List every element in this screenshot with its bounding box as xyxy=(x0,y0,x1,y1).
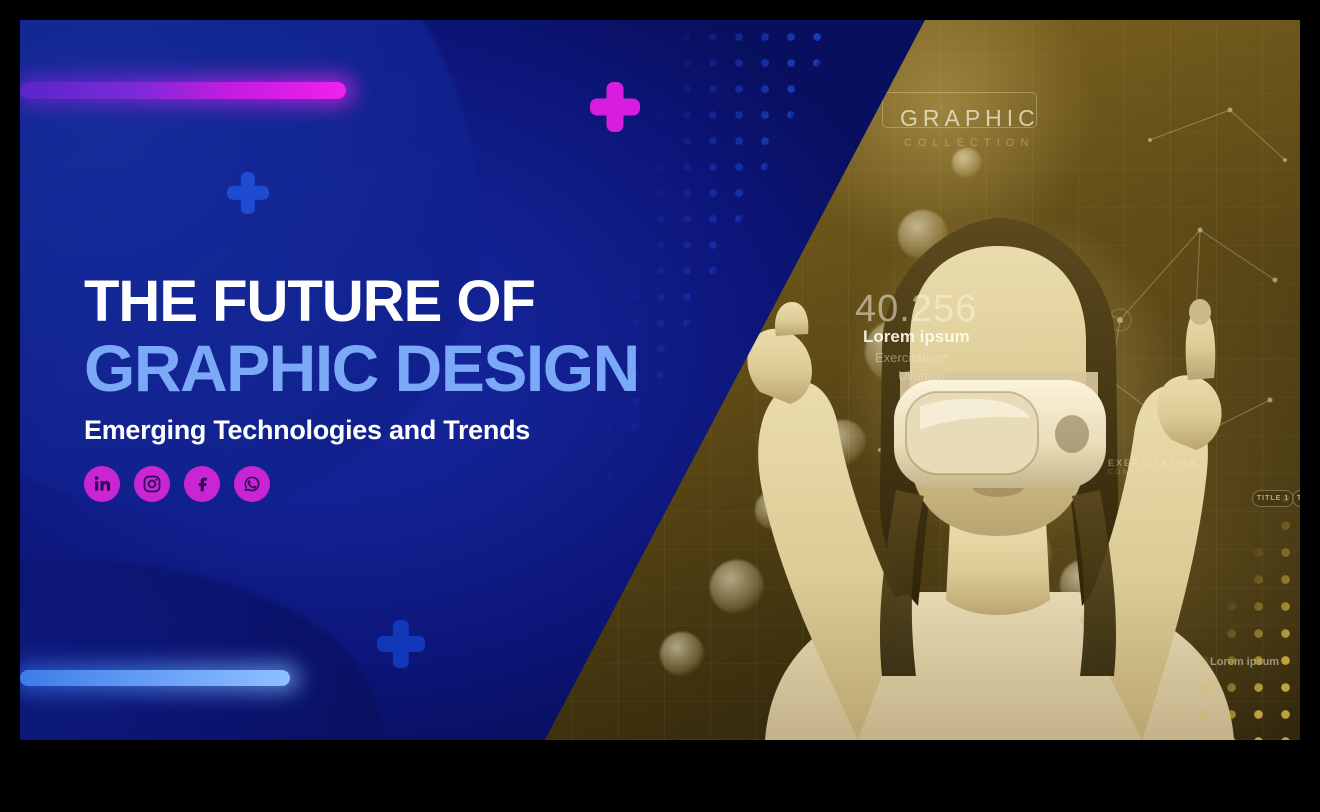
frame-bottom xyxy=(0,740,1320,812)
subtitle: Emerging Technologies and Trends xyxy=(84,415,784,446)
social-icon-facebook[interactable] xyxy=(184,466,220,502)
presentation-slide: GRAPHIC COLLECTION 40.256 Lorem ipsum Ex… xyxy=(20,20,1300,740)
plus-blue-large-icon xyxy=(377,620,425,668)
frame-left xyxy=(0,0,20,812)
screenshot-stage: GRAPHIC COLLECTION 40.256 Lorem ipsum Ex… xyxy=(0,0,1320,812)
frame-right xyxy=(1300,0,1320,812)
social-icon-linkedin[interactable] xyxy=(84,466,120,502)
plus-magenta-icon xyxy=(590,82,640,132)
social-icon-whatsapp[interactable] xyxy=(234,466,270,502)
frame-top xyxy=(0,0,1320,20)
gradient-bar-bottom xyxy=(20,670,290,686)
whatsapp-icon xyxy=(242,474,262,494)
plus-blue-small-icon xyxy=(227,172,269,214)
title-block: THE FUTURE OF GRAPHIC DESIGN Emerging Te… xyxy=(84,272,784,502)
facebook-icon xyxy=(193,474,212,493)
gradient-bar-top xyxy=(20,82,346,99)
instagram-icon xyxy=(142,474,162,494)
title-line-1: THE FUTURE OF xyxy=(84,272,784,332)
title-line-2: GRAPHIC DESIGN xyxy=(84,334,784,403)
social-links xyxy=(84,466,784,502)
linkedin-icon xyxy=(93,474,112,493)
social-icon-instagram[interactable] xyxy=(134,466,170,502)
